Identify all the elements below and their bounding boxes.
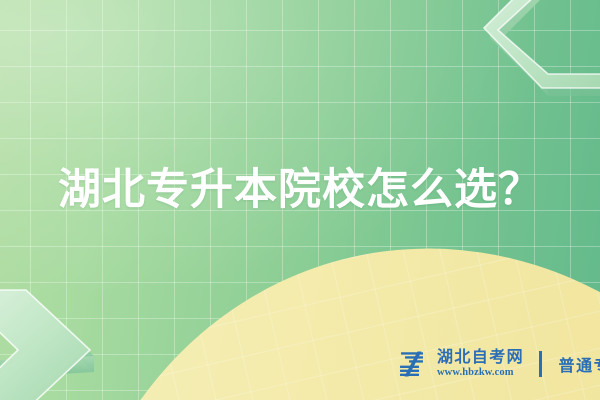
logo-site-url: www.hbzkw.com bbox=[437, 368, 524, 379]
page-title: 湖北专升本院校怎么选？ bbox=[0, 168, 600, 214]
hbzkw-z-mark-icon bbox=[398, 350, 428, 378]
promo-banner: 湖北专升本院校怎么选？ 湖北自考网 www.hbzkw.com 普通专升 bbox=[0, 0, 600, 400]
chevron-3d-icon bbox=[0, 278, 130, 400]
brand-logo: 湖北自考网 www.hbzkw.com 普通专升本 bbox=[398, 350, 600, 379]
logo-text-block: 湖北自考网 www.hbzkw.com bbox=[437, 350, 524, 379]
logo-tagline: 普通专升本 bbox=[559, 352, 600, 376]
logo-site-name: 湖北自考网 bbox=[437, 350, 524, 366]
vertical-divider bbox=[539, 351, 542, 377]
chevron-3d-icon bbox=[464, 0, 600, 124]
title-text: 湖北专升本院校怎么选？ bbox=[58, 168, 542, 214]
